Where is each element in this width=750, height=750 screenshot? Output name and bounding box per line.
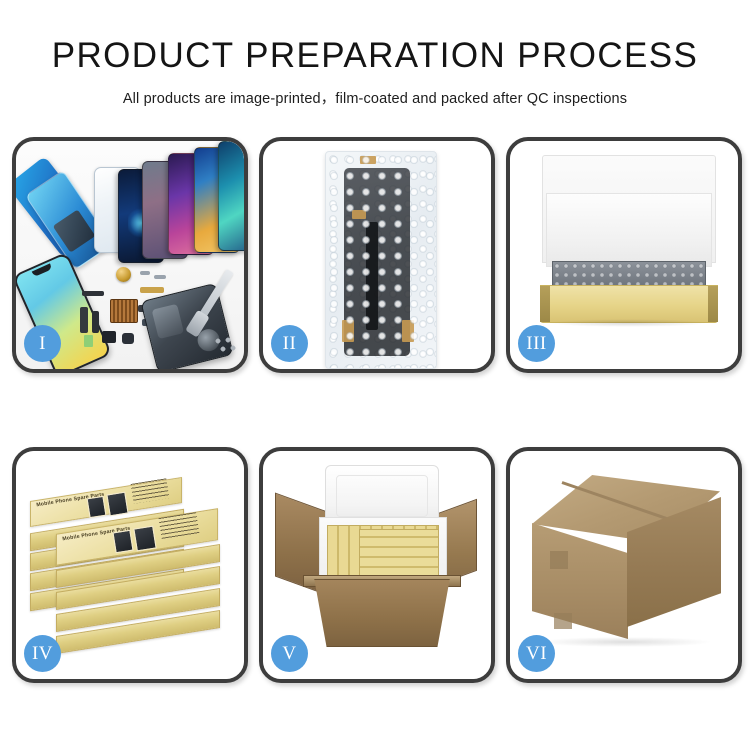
process-step-panel-4[interactable]: Mobile Phone Spare Parts Mobile Phone Sp… (12, 447, 248, 683)
page-subtitle: All products are image-printed，film-coat… (0, 87, 750, 108)
step-badge-6: VI (518, 635, 555, 672)
gold-connector-icon (140, 287, 164, 293)
box-window-icon (87, 496, 107, 518)
flex-cable-icon (80, 307, 88, 333)
page-header: PRODUCT PREPARATION PROCESS All products… (0, 0, 750, 108)
step-badge-5: V (271, 635, 308, 672)
side-button-icon (154, 275, 166, 279)
carton-body-icon (305, 579, 459, 647)
process-step-grid: I II (12, 137, 738, 683)
box-window-icon (112, 530, 133, 554)
process-step-panel-2[interactable]: II (259, 137, 495, 373)
wrapped-flex-cable-icon (366, 222, 378, 330)
screws-icon (214, 337, 236, 353)
foam-lining-icon (546, 193, 712, 267)
page-title: PRODUCT PREPARATION PROCESS (0, 38, 750, 75)
speaker-module-icon (122, 333, 134, 344)
tape-strip-icon (342, 320, 354, 342)
box-window-icon (133, 526, 156, 552)
step-badge-4: IV (24, 635, 61, 672)
chip-grid-icon (110, 299, 138, 323)
process-step-panel-1[interactable]: I (12, 137, 248, 373)
bubble-wrap-bag-icon (325, 151, 437, 369)
process-step-panel-6[interactable]: VI (506, 447, 742, 683)
phone-display-fan (112, 147, 244, 267)
step-badge-3: III (518, 325, 555, 362)
box-window-icon (106, 492, 128, 517)
carton-tape-icon (554, 613, 572, 629)
camera-lens-icon (116, 267, 131, 282)
process-step-panel-3[interactable]: III (506, 137, 742, 373)
flex-cable-icon (82, 291, 104, 296)
inner-kraft-boxes-icon (359, 529, 439, 577)
box-stack: Mobile Phone Spare Parts Mobile Phone Sp… (30, 475, 236, 665)
tape-strip-icon (352, 210, 366, 219)
tape-strip-icon (360, 156, 376, 164)
flex-cable-icon (92, 311, 99, 333)
speaker-module-icon (102, 331, 116, 343)
sim-tray-icon (84, 335, 93, 347)
box-shadow (548, 319, 708, 327)
step-badge-1: I (24, 325, 61, 362)
tape-strip-icon (402, 320, 414, 342)
process-step-panel-5[interactable]: V (259, 447, 495, 683)
phone-display-icon (218, 141, 244, 251)
side-button-icon (140, 271, 150, 275)
step-badge-2: II (271, 325, 308, 362)
carton-left-face-icon (532, 523, 628, 639)
carton-shadow (540, 637, 710, 647)
kraft-box-front-icon (540, 285, 718, 323)
carton-tape-icon (550, 551, 568, 569)
